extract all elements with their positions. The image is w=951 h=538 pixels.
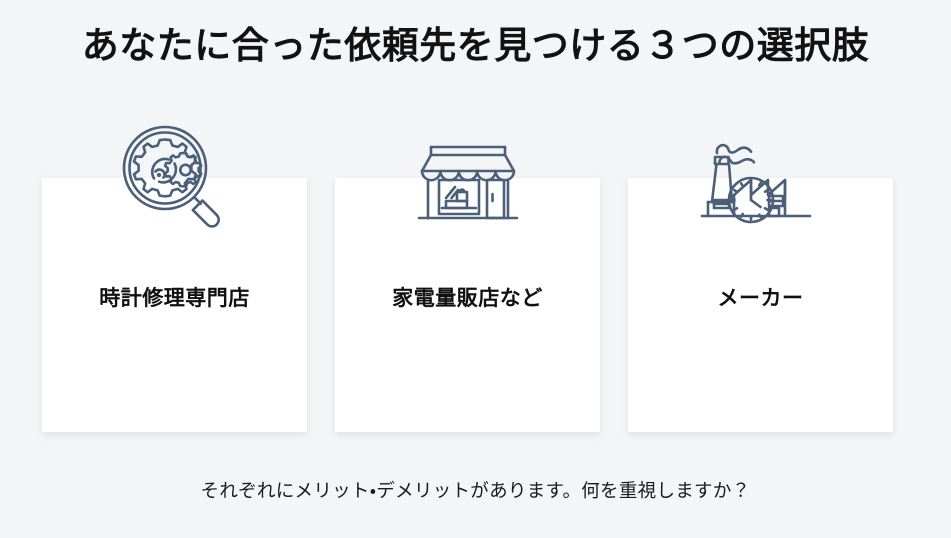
slide-caption: それぞれにメリット・デメリットがあります。何を重視しますか？ — [0, 478, 951, 504]
option-card-watch-repair[interactable]: 時計修理専門店 — [42, 178, 307, 432]
slide-root: あなたに合った依頼先を見つける３つの選択肢 — [0, 0, 951, 538]
option-card-maker[interactable]: メーカー — [628, 178, 893, 432]
option-card-label: 時計修理専門店 — [42, 282, 307, 312]
options-card-row: 時計修理専門店 — [42, 178, 893, 432]
option-card-label: メーカー — [628, 282, 893, 312]
storefront-icon — [402, 116, 534, 248]
factory-clock-icon — [695, 116, 827, 248]
option-card-electronics-store[interactable]: 家電量販店など — [335, 178, 600, 432]
magnifier-gears-icon — [109, 116, 241, 248]
page-title: あなたに合った依頼先を見つける３つの選択肢 — [0, 22, 951, 70]
option-card-label: 家電量販店など — [335, 282, 600, 312]
